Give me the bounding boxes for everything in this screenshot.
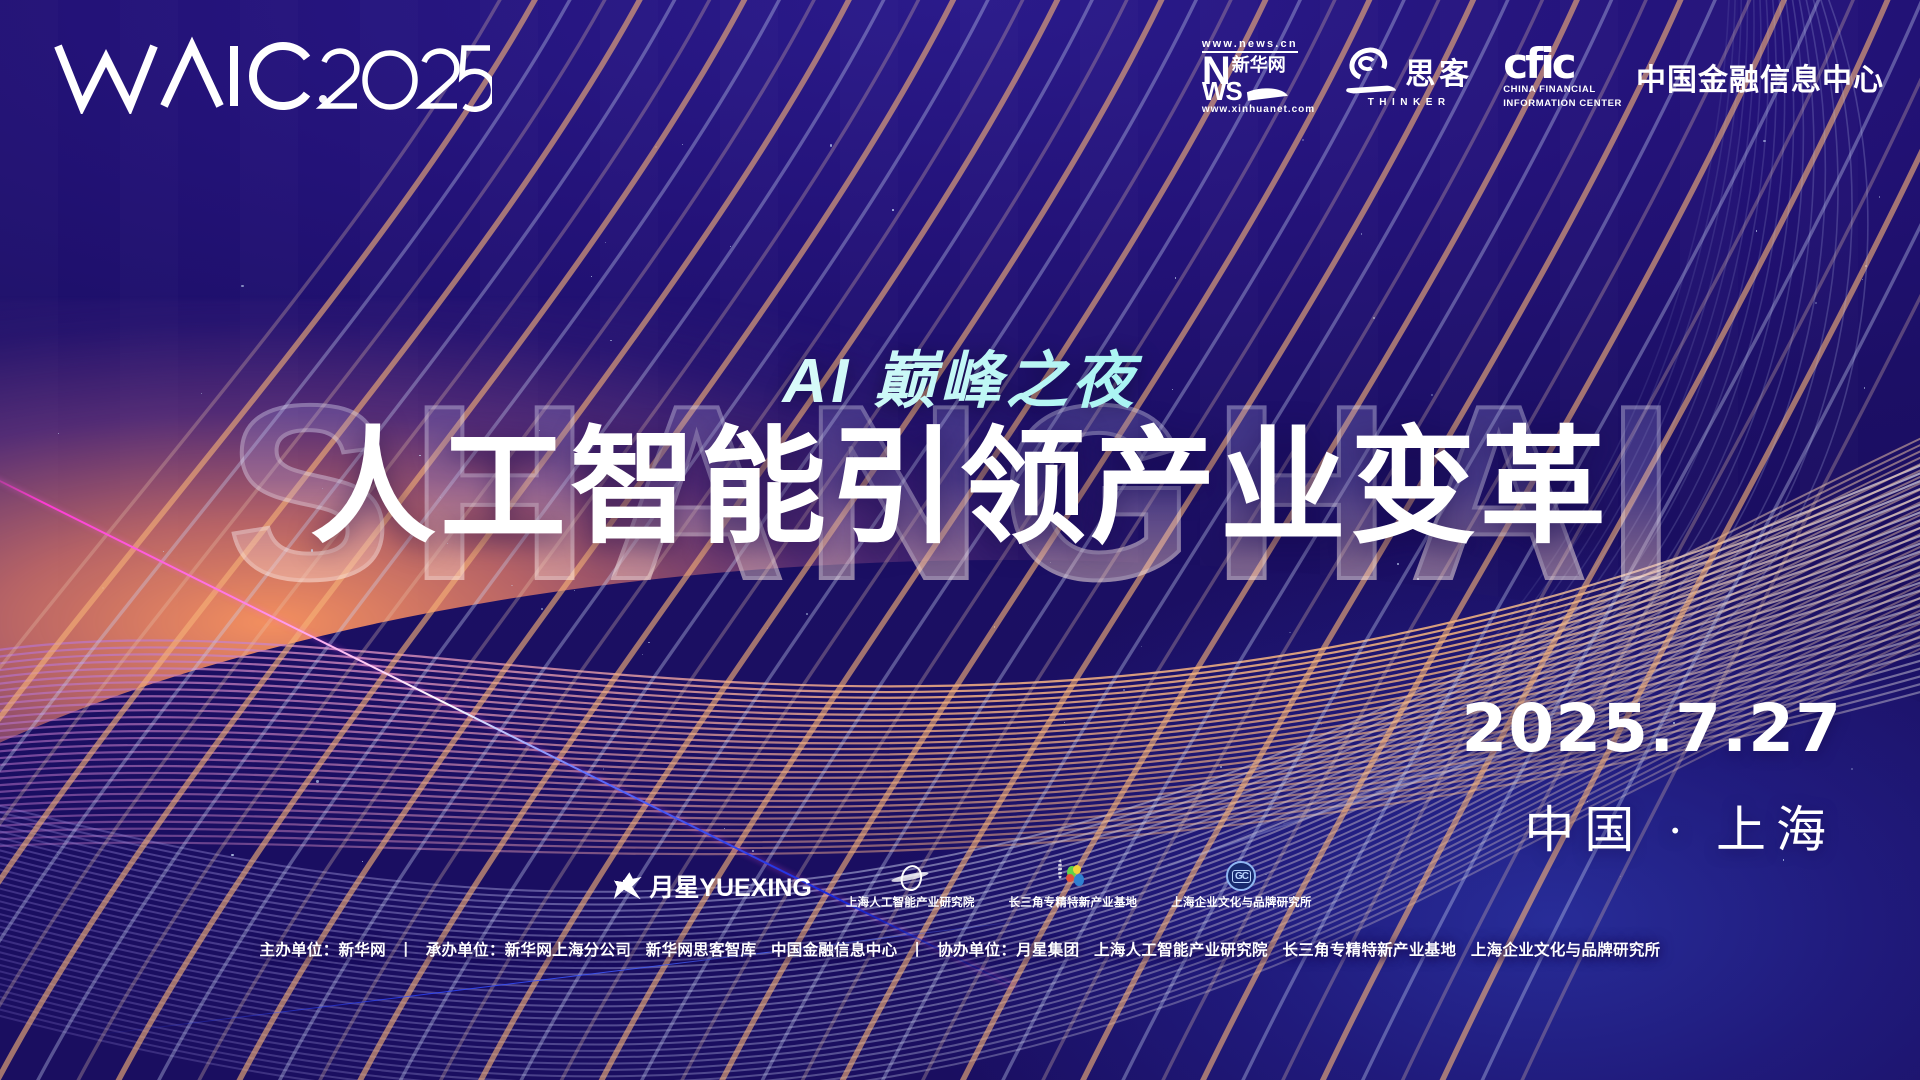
footer-coorganizer-2: 上海人工智能产业研究院 (1094, 942, 1268, 959)
color-dots-icon (1058, 861, 1088, 891)
footer-coorganizer: 协办单位：月星集团 (937, 942, 1079, 959)
partner-logo-saii[interactable]: 上海人工智能产业研究院 (846, 861, 975, 910)
event-subtitle: AI 巅峰之夜 (0, 330, 1920, 420)
thinker-cn-name: 思客 (1405, 49, 1473, 93)
partner-label-yrd-base: 长三角专精特新产业基地 (1009, 894, 1138, 910)
footer-credits: 主办单位：新华网丨承办单位：新华网上海分公司 新华网思客智库 中国金融信息中心丨… (0, 938, 1920, 960)
partner-label-secbri: 上海企业文化与品牌研究所 (1171, 894, 1311, 910)
partner-logo-yrd-base[interactable]: 长三角专精特新产业基地 (1009, 861, 1138, 910)
event-date: 2025.7.27 (1461, 690, 1842, 767)
xinhua-swoosh-icon (1246, 82, 1293, 101)
partner-label-yuexing: 月星YUEXING (649, 868, 812, 904)
cfic-en-line2: INFORMATION CENTER (1503, 98, 1622, 110)
footer-organizer: 承办单位：新华网上海分公司 (426, 942, 631, 959)
cfic-logo[interactable]: cfic CHINA FINANCIAL INFORMATION CENTER … (1503, 45, 1884, 110)
cfic-en-line1: CHINA FINANCIAL (1503, 84, 1596, 96)
thinker-swirl-icon (1345, 46, 1397, 96)
footer-separator-2: 丨 (897, 942, 937, 959)
xinhua-url-bottom: www.xinhuanet.com (1202, 105, 1315, 115)
thinker-logo[interactable]: 思客 THINKER (1345, 46, 1473, 108)
footer-host: 主办单位：新华网 (260, 942, 386, 959)
partner-label-saii: 上海人工智能产业研究院 (846, 894, 975, 910)
xinhua-logo[interactable]: www.news.cn N 新华网 WS www.xinhuanet.com (1202, 39, 1315, 116)
event-headline: 人工智能引领产业变革 (0, 420, 1920, 556)
seal-icon: GC (1226, 861, 1256, 891)
xinhua-cn-name: 新华网 (1232, 56, 1286, 74)
xinhua-abbr: WS (1202, 78, 1242, 104)
partner-logo-yuexing[interactable]: 月星YUEXING (608, 868, 812, 910)
thinker-en-name: THINKER (1368, 97, 1451, 108)
partner-logo-secbri[interactable]: GC 上海企业文化与品牌研究所 (1171, 861, 1311, 910)
waic-2025-logo (52, 36, 492, 114)
footer-coorganizer-3: 长三角专精特新产业基地 (1282, 942, 1456, 959)
cfic-cn-name: 中国金融信息中心 (1636, 55, 1884, 99)
footer-organizer-3: 中国金融信息中心 (771, 942, 897, 959)
globe-icon (895, 861, 925, 891)
footer-separator-1: 丨 (386, 942, 426, 959)
top-sponsor-logos: www.news.cn N 新华网 WS www.xinhuanet.com 思… (1202, 40, 1884, 114)
cfic-mark: cfic (1503, 45, 1573, 83)
partner-logo-row: 月星YUEXING 上海人工智能产业研究院 长三角专精特新产业基地 GC 上海企… (0, 848, 1920, 910)
footer-organizer-2: 新华网思客智库 (646, 942, 757, 959)
star-bird-icon (608, 871, 642, 901)
footer-coorganizer-4: 上海企业文化与品牌研究所 (1471, 942, 1661, 959)
poster-canvas: SHANGHAI www (0, 0, 1920, 1080)
